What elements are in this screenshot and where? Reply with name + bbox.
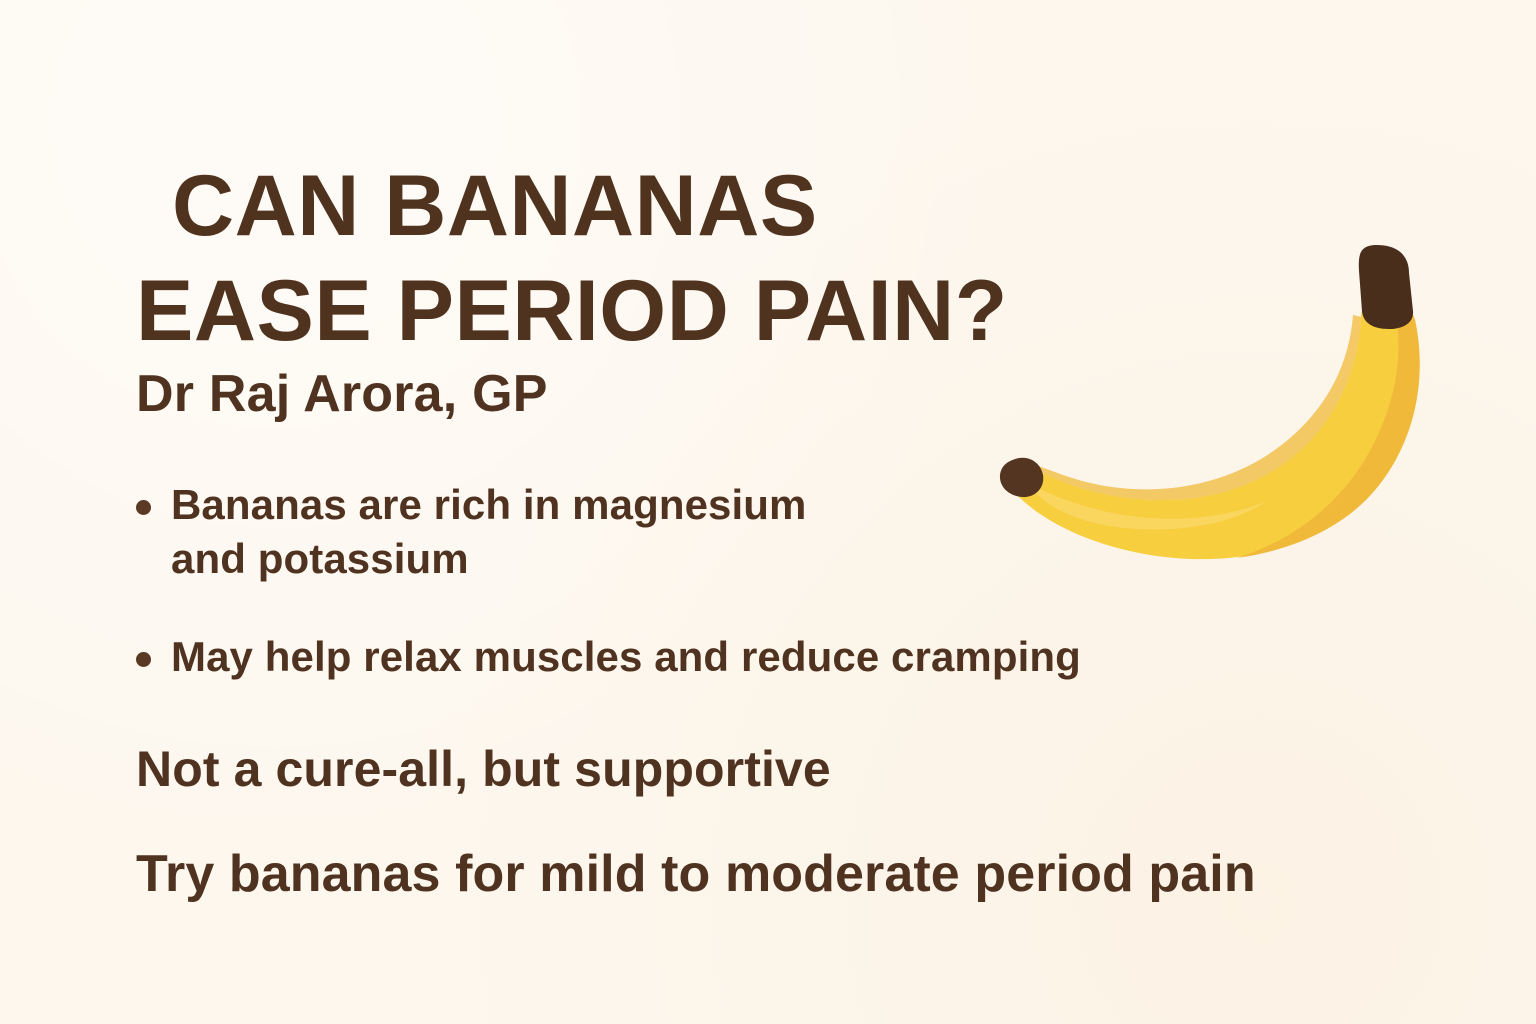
- statement-caveat: Not a cure-all, but supportive: [136, 742, 831, 797]
- list-item: May help relax muscles and reduce crampi…: [136, 630, 1256, 684]
- infographic-poster: CAN BANANAS EASE PERIOD PAIN? Dr Raj Aro…: [0, 0, 1536, 1024]
- bullet-dot-icon: [136, 652, 151, 667]
- byline-author: Dr Raj Arora, GP: [136, 366, 548, 423]
- list-item-label: Bananas are rich in magnesium and potass…: [171, 478, 891, 586]
- statement-recommendation: Try bananas for mild to moderate period …: [136, 846, 1256, 903]
- banana-illustration: [985, 225, 1435, 575]
- list-item-label: May help relax muscles and reduce crampi…: [171, 630, 1081, 684]
- banana-tip: [1000, 458, 1043, 497]
- banana-stem: [1359, 245, 1413, 329]
- bullet-dot-icon: [136, 500, 151, 515]
